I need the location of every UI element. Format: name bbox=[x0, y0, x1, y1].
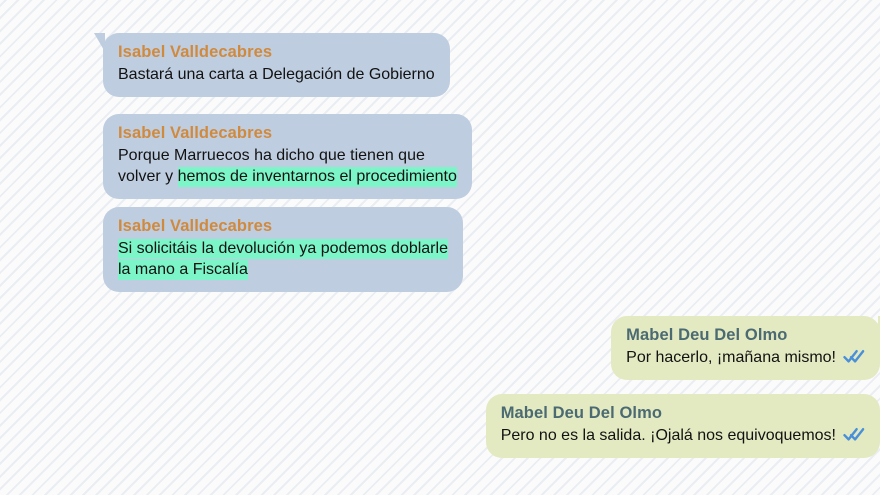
message-line-segment: Porque Marruecos ha dicho que tienen que bbox=[118, 147, 425, 164]
message-highlighted-segment: la mano a Fiscalía bbox=[118, 260, 248, 280]
chat-transcript: Isabel Valldecabres Bastará una carta a … bbox=[0, 0, 880, 495]
message-text: Si solicitáis la devolución ya podemos d… bbox=[118, 239, 448, 281]
message-bubble-outgoing[interactable]: Mabel Deu Del Olmo Pero no es la salida.… bbox=[486, 394, 880, 458]
double-check-read-icon bbox=[843, 427, 865, 442]
message-sender-name: Isabel Valldecabres bbox=[118, 216, 448, 237]
message-text: Por hacerlo, ¡mañana mismo! bbox=[626, 348, 865, 369]
message-sender-name: Isabel Valldecabres bbox=[118, 42, 435, 63]
message-bubble-incoming[interactable]: Isabel Valldecabres Si solicitáis la dev… bbox=[103, 207, 463, 292]
message-sender-name: Isabel Valldecabres bbox=[118, 123, 457, 144]
message-highlighted-segment: Si solicitáis la devolución ya podemos d… bbox=[118, 239, 448, 259]
message-line-segment: Por hacerlo, ¡mañana mismo! bbox=[626, 349, 836, 366]
message-line-segment: Bastará una carta a Delegación de Gobier… bbox=[118, 66, 435, 83]
message-sender-name: Mabel Deu Del Olmo bbox=[626, 325, 865, 346]
message-highlighted-segment: hemos de inventarnos el procedimiento bbox=[178, 167, 457, 187]
message-row: Isabel Valldecabres Porque Marruecos ha … bbox=[103, 114, 472, 199]
message-row: Isabel Valldecabres Si solicitáis la dev… bbox=[103, 207, 463, 292]
message-row: Mabel Deu Del Olmo Por hacerlo, ¡mañana … bbox=[484, 316, 880, 380]
message-sender-name: Mabel Deu Del Olmo bbox=[501, 403, 865, 424]
message-row: Mabel Deu Del Olmo Pero no es la salida.… bbox=[349, 394, 880, 458]
message-text: Pero no es la salida. ¡Ojalá nos equivoq… bbox=[501, 426, 865, 447]
message-line-segment: Pero no es la salida. ¡Ojalá nos equivoq… bbox=[501, 427, 836, 444]
message-bubble-outgoing[interactable]: Mabel Deu Del Olmo Por hacerlo, ¡mañana … bbox=[611, 316, 880, 380]
double-check-read-icon bbox=[843, 349, 865, 364]
message-text: Porque Marruecos ha dicho que tienen que… bbox=[118, 146, 457, 188]
message-bubble-incoming[interactable]: Isabel Valldecabres Bastará una carta a … bbox=[103, 33, 450, 97]
message-row: Isabel Valldecabres Bastará una carta a … bbox=[103, 33, 450, 97]
message-line-segment: volver y bbox=[118, 168, 178, 185]
message-text: Bastará una carta a Delegación de Gobier… bbox=[118, 65, 435, 86]
message-bubble-incoming[interactable]: Isabel Valldecabres Porque Marruecos ha … bbox=[103, 114, 472, 199]
